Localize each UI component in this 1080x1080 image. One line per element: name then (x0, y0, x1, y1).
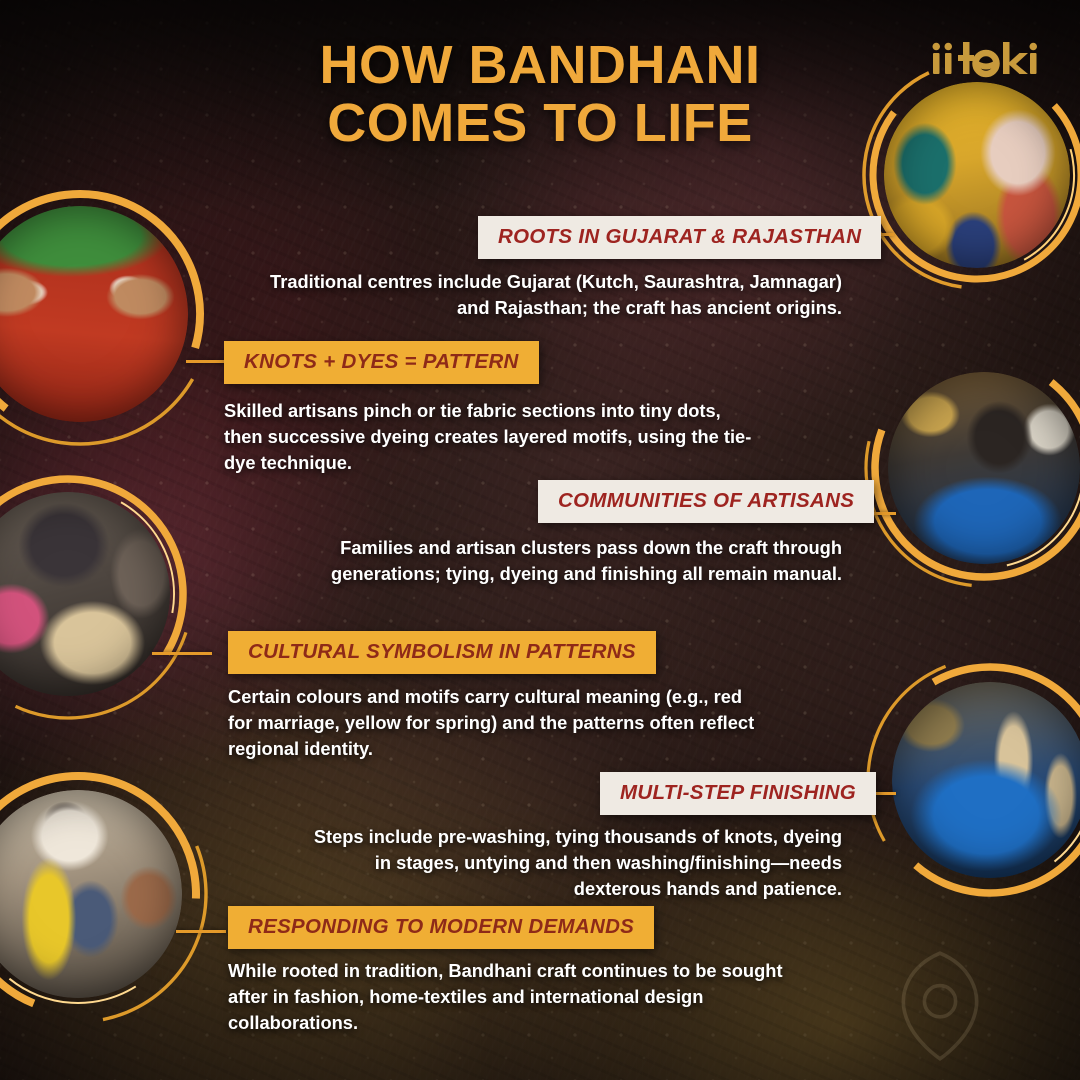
section-body-responding-to-modern-demands: While rooted in tradition, Bandhani craf… (228, 958, 784, 1036)
section-label-knots-dyes-pattern[interactable]: KNOTS + DYES = PATTERN (224, 341, 539, 384)
section-label-roots-in-gujarat-rajasthan[interactable]: ROOTS IN GUJARAT & RAJASTHAN (478, 216, 881, 259)
infographic-canvas: HOW BANDHANI COMES TO LIFE (0, 0, 1080, 1080)
section-body-communities-of-artisans: Families and artisan clusters pass down … (248, 535, 842, 587)
connector-line-2 (186, 360, 226, 363)
section-label-responding-to-modern-demands[interactable]: RESPONDING TO MODERN DEMANDS (228, 906, 654, 949)
section-label-communities-of-artisans[interactable]: COMMUNITIES OF ARTISANS (538, 480, 874, 523)
photo-cloth-rolls-blue-dye (892, 682, 1080, 878)
paisley-watermark-icon (880, 946, 1000, 1066)
section-body-roots-in-gujarat-rajasthan: Traditional centres include Gujarat (Kut… (264, 269, 842, 321)
photo-artisan-dyeing-vat (888, 372, 1080, 564)
photo-inner-shadow (884, 82, 1070, 268)
photo-women-tying-bandhani (884, 82, 1070, 268)
section-body-knots-dyes-pattern: Skilled artisans pinch or tie fabric sec… (224, 398, 764, 476)
section-label-cultural-symbolism-in-patterns[interactable]: CULTURAL SYMBOLISM IN PATTERNS (228, 631, 656, 674)
photo-inner-shadow (892, 682, 1080, 878)
itokri-logo[interactable] (930, 40, 1042, 82)
page-title-line-1: HOW BANDHANI (0, 36, 1080, 94)
section-body-multi-step-finishing: Steps include pre-washing, tying thousan… (300, 824, 842, 902)
connector-line-6 (176, 930, 226, 933)
section-body-cultural-symbolism-in-patterns: Certain colours and motifs carry cultura… (228, 684, 768, 762)
connector-line-3 (152, 652, 212, 655)
photo-inner-shadow (888, 372, 1080, 564)
section-label-multi-step-finishing[interactable]: MULTI-STEP FINISHING (600, 772, 876, 815)
